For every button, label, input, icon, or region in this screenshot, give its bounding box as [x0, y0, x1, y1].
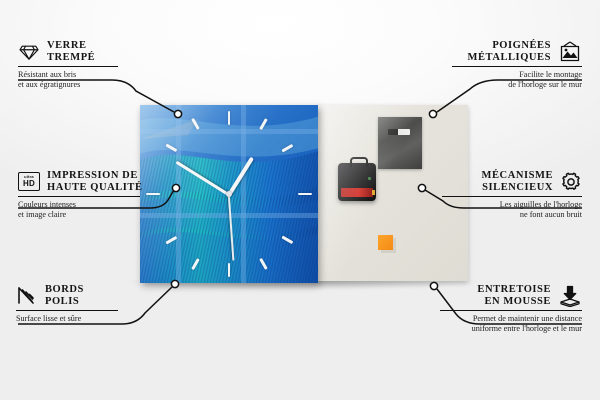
callout-bords-polis: BORDS POLIS Surface lisse et sûre: [16, 284, 126, 324]
ultra-hd-icon: ultra HD: [18, 172, 40, 191]
callout-rule: [18, 196, 140, 197]
hour-marker: [228, 263, 231, 277]
foam-spacer: [378, 235, 393, 250]
callout-title-line1: BORDS: [45, 284, 84, 296]
callout-title-line2: SILENCIEUX: [482, 182, 553, 194]
callout-verre-trempe: VERRE TREMPÉ Résistant aux bris et aux é…: [18, 40, 128, 90]
metal-hanger: [378, 117, 422, 169]
callout-desc-line1: Permet de maintenir une distance: [440, 314, 582, 324]
polished-edges-icon: [16, 286, 38, 306]
callout-impression-haute-qualite: ultra HD IMPRESSION DE HAUTE QUALITÉ Cou…: [18, 170, 148, 220]
callout-title-line2: MÉTALLIQUES: [468, 52, 551, 64]
ultra-hd-icon-bottom: HD: [23, 180, 35, 188]
infographic-canvas: VERRE TREMPÉ Résistant aux bris et aux é…: [0, 0, 600, 400]
hanging-frame-icon: [558, 41, 582, 63]
callout-title-line2: TREMPÉ: [47, 52, 95, 64]
callout-desc-line2: et aux égratignures: [18, 80, 128, 90]
clock-product-photo: [140, 105, 468, 283]
hour-marker: [228, 111, 231, 125]
callout-title-line1: POIGNÉES: [468, 40, 551, 52]
callout-rule: [440, 310, 582, 311]
callout-desc-line1: Les aiguilles de l'horloge: [442, 200, 582, 210]
callout-title-line1: IMPRESSION DE: [47, 170, 143, 182]
callout-rule: [16, 310, 118, 311]
callout-desc-line2: de l'horloge sur le mur: [452, 80, 582, 90]
callout-title-line2: HAUTE QUALITÉ: [47, 182, 143, 194]
movement-indicator: [368, 177, 371, 180]
callout-poignees-metalliques: POIGNÉES MÉTALLIQUES Facilite le montage…: [452, 40, 582, 90]
callout-rule: [452, 66, 582, 67]
spacer-down-arrow-icon: [558, 285, 582, 307]
callout-desc-line1: Facilite le montage: [452, 70, 582, 80]
hanger-slot: [388, 129, 410, 135]
hour-marker: [146, 193, 160, 196]
callout-header: POIGNÉES MÉTALLIQUES: [452, 40, 582, 63]
callout-entretoise-en-mousse: ENTRETOISE EN MOUSSE Permet de maintenir…: [440, 284, 582, 334]
face-grid-line: [140, 129, 318, 134]
callout-desc-line1: Surface lisse et sûre: [16, 314, 126, 324]
gear-icon: [560, 171, 582, 193]
callout-title-line1: MÉCANISME: [482, 170, 553, 182]
hand-centre-pin: [226, 191, 232, 197]
callout-title-line2: POLIS: [45, 296, 84, 308]
callout-title-line1: VERRE: [47, 40, 95, 52]
callout-header: BORDS POLIS: [16, 284, 126, 307]
callout-title-line2: EN MOUSSE: [477, 296, 551, 308]
hour-marker: [298, 193, 312, 196]
callout-header: ultra HD IMPRESSION DE HAUTE QUALITÉ: [18, 170, 148, 193]
callout-desc-line1: Couleurs intenses: [18, 200, 148, 210]
clock-face: [140, 105, 318, 283]
diamond-icon: [18, 43, 40, 61]
callout-title-line1: ENTRETOISE: [477, 284, 551, 296]
callout-desc-line1: Résistant aux bris: [18, 70, 128, 80]
callout-mecanisme-silencieux: MÉCANISME SILENCIEUX Les aiguilles de l'…: [442, 170, 582, 220]
movement-hook: [350, 157, 368, 167]
callout-desc-line2: ne font aucun bruit: [442, 210, 582, 220]
battery: [341, 188, 373, 197]
clock-movement: [338, 163, 376, 201]
callout-header: ENTRETOISE EN MOUSSE: [440, 284, 582, 307]
callout-header: MÉCANISME SILENCIEUX: [442, 170, 582, 193]
callout-rule: [18, 66, 118, 67]
callout-desc-line2: uniforme entre l'horloge et le mur: [440, 324, 582, 334]
callout-rule: [442, 196, 582, 197]
callout-desc-line2: et image claire: [18, 210, 148, 220]
callout-header: VERRE TREMPÉ: [18, 40, 128, 63]
